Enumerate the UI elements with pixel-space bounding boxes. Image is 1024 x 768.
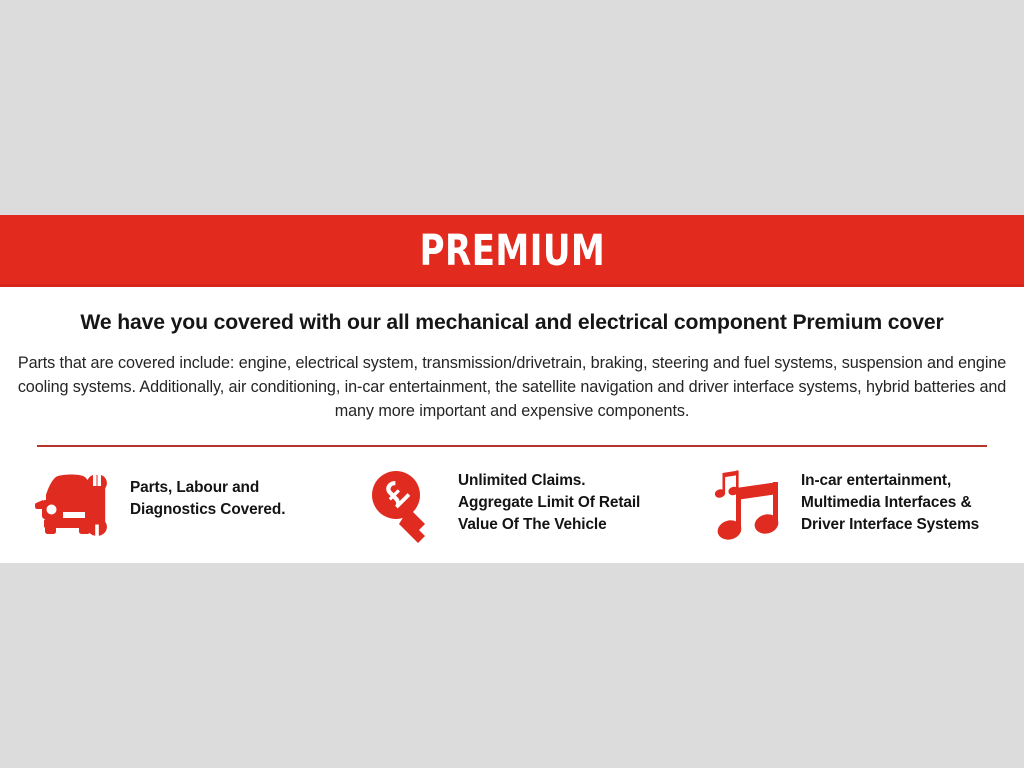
feature-label: Parts, Labour and Diagnostics Covered. bbox=[130, 469, 285, 521]
feature-unlimited-claims: Unlimited Claims. Aggregate Limit Of Ret… bbox=[360, 469, 705, 543]
background-top-spacer bbox=[0, 0, 1024, 215]
feature-in-car-entertainment: In-car entertainment, Multimedia Interfa… bbox=[705, 469, 998, 543]
feature-row: Parts, Labour and Diagnostics Covered. bbox=[0, 447, 1024, 563]
background-bottom-spacer bbox=[0, 563, 1024, 768]
banner-title: PREMIUM bbox=[419, 230, 605, 273]
premium-cover-card: PREMIUM We have you covered with our all… bbox=[0, 215, 1024, 563]
music-notes-icon bbox=[715, 469, 787, 543]
premium-banner: PREMIUM bbox=[0, 215, 1024, 287]
coverage-paragraph: Parts that are covered include: engine, … bbox=[14, 352, 1010, 423]
feature-parts-labour: Parts, Labour and Diagnostics Covered. bbox=[26, 469, 360, 543]
key-pound-icon bbox=[368, 469, 444, 543]
feature-label: In-car entertainment, Multimedia Interfa… bbox=[801, 469, 979, 536]
headline: We have you covered with our all mechani… bbox=[21, 309, 1002, 336]
card-body: We have you covered with our all mechani… bbox=[0, 287, 1024, 447]
car-wrench-icon bbox=[34, 469, 116, 543]
feature-label: Unlimited Claims. Aggregate Limit Of Ret… bbox=[458, 469, 640, 536]
